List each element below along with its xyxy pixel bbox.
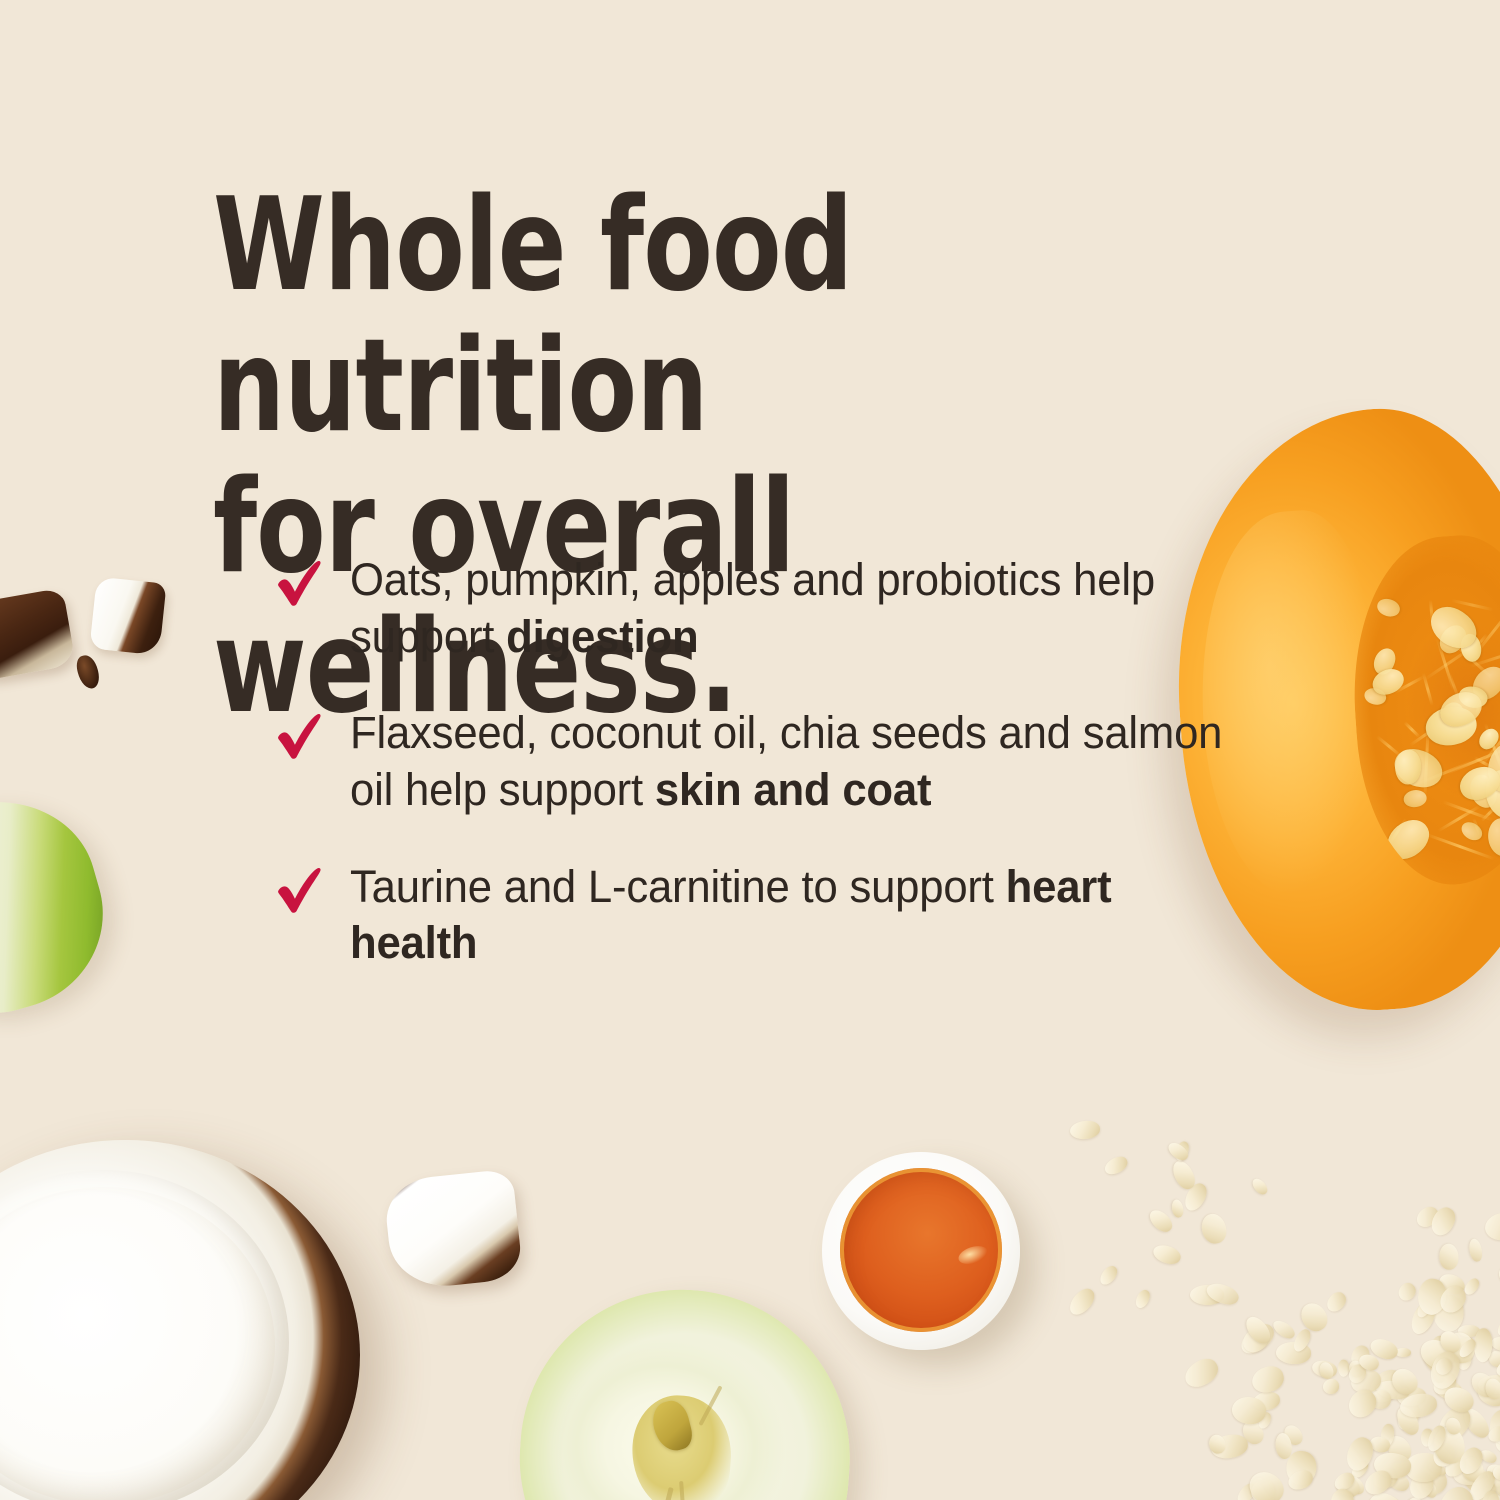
pumpkin-seed [1362, 686, 1387, 706]
oat-flake [1431, 1362, 1446, 1384]
pumpkin-fiber [1436, 638, 1455, 691]
oat-flake [1494, 1355, 1500, 1380]
pumpkin-seed [1395, 750, 1421, 785]
pumpkin-seed [1475, 725, 1500, 753]
oat-flake [1393, 1399, 1424, 1433]
oat-flake [1338, 1360, 1349, 1377]
oat-flake [1097, 1263, 1120, 1287]
oat-flake [1371, 1491, 1406, 1500]
oat-flake [1433, 1401, 1477, 1446]
oat-flake [1489, 1335, 1500, 1353]
pumpkin-fiber [1481, 805, 1498, 822]
rolled-oats-photo [1120, 1140, 1500, 1500]
oat-flake [1495, 1315, 1500, 1338]
oat-flake [1420, 1340, 1455, 1377]
oat-flake [1479, 1447, 1499, 1465]
oat-flake [1283, 1448, 1319, 1488]
oat-flake [1444, 1330, 1477, 1365]
oat-flake [1458, 1325, 1480, 1338]
pumpkin-seed [1389, 743, 1447, 794]
oat-flake [1461, 1276, 1481, 1297]
pumpkin-fiber [1412, 760, 1475, 788]
pumpkin-fiber [1426, 697, 1460, 740]
oat-flake [1333, 1472, 1363, 1500]
coconut-chunk-photo [383, 1169, 524, 1292]
oat-flake [1256, 1410, 1273, 1430]
oat-flake [1478, 1375, 1500, 1394]
oat-flake [1455, 1444, 1487, 1478]
oat-flake [1484, 1211, 1500, 1242]
oat-flake [1484, 1377, 1500, 1401]
pumpkin-fiber [1403, 721, 1420, 738]
oat-flake [1368, 1434, 1392, 1455]
pumpkin-fiber [1473, 756, 1493, 769]
apple-slice-photo [0, 777, 125, 1033]
oat-flake [1361, 1466, 1396, 1499]
pumpkin-seed [1402, 789, 1428, 810]
oat-flake [1439, 1244, 1458, 1270]
oat-flake [1453, 1463, 1485, 1486]
oat-flake [1252, 1390, 1282, 1412]
pumpkin-fiber [1492, 802, 1500, 823]
oat-flake [1406, 1299, 1439, 1338]
oat-flake [1442, 1454, 1470, 1480]
check-icon [276, 560, 322, 612]
benefit-text: Taurine and L-carnitine to support heart… [350, 859, 1229, 972]
coconut-rim-shadow [0, 1187, 275, 1500]
oat-flake [1297, 1298, 1331, 1334]
oat-flake [1436, 1270, 1467, 1297]
oat-flake [1350, 1368, 1383, 1394]
oat-flake [1465, 1468, 1499, 1500]
pumpkin-seed [1459, 632, 1485, 663]
pumpkin-fiber [1446, 746, 1500, 776]
pumpkin-seed [1455, 760, 1500, 805]
oat-flake [1318, 1361, 1335, 1381]
oat-flake [1460, 1455, 1486, 1483]
pumpkin-fiber [1376, 735, 1402, 757]
oat-flake [1457, 1337, 1479, 1360]
oat-flake [1440, 1382, 1477, 1416]
oat-flake [1495, 1474, 1500, 1491]
oat-flake [1416, 1277, 1449, 1317]
pumpkin-seed-cavity [1343, 530, 1500, 891]
oat-flake [1102, 1153, 1130, 1177]
oat-flake [1181, 1179, 1211, 1213]
oat-flake [1208, 1433, 1227, 1454]
oat-flake [1230, 1394, 1268, 1426]
oat-flake [1461, 1455, 1487, 1493]
oat-flake [1427, 1204, 1460, 1240]
oat-flake [1444, 1416, 1462, 1436]
oil-glint [957, 1243, 990, 1267]
oat-flake [1486, 1347, 1500, 1370]
oat-flake [1395, 1280, 1419, 1304]
oat-flake [1414, 1468, 1449, 1499]
pumpkin-seed [1466, 770, 1500, 811]
pumpkin-seed [1486, 816, 1500, 857]
oat-flake [1249, 1363, 1287, 1396]
oat-flake [1210, 1433, 1250, 1461]
oat-flake [1387, 1363, 1422, 1399]
oat-flake [1348, 1359, 1364, 1378]
pumpkin-fiber [1484, 723, 1500, 771]
oat-flake [1432, 1355, 1454, 1378]
coconut-shard-photo [0, 588, 76, 681]
oat-flake [1372, 1450, 1412, 1481]
oat-flake [1169, 1158, 1198, 1193]
pumpkin-fiber [1470, 648, 1500, 669]
oat-flake [1486, 1491, 1500, 1500]
pumpkin-seed [1438, 700, 1467, 737]
pumpkin-fiber [1410, 723, 1442, 747]
pumpkin-fiber [1474, 634, 1488, 650]
oat-flake [1474, 1380, 1500, 1412]
oat-flake [1290, 1327, 1313, 1354]
oat-flake [1342, 1433, 1378, 1474]
oat-flake [1180, 1354, 1222, 1392]
oat-flake [1165, 1139, 1191, 1164]
oat-flake [1379, 1423, 1396, 1448]
oat-flake [1482, 1460, 1500, 1494]
oat-flake [1427, 1333, 1447, 1358]
oat-flake [1133, 1287, 1152, 1309]
oat-flake [1448, 1332, 1480, 1367]
oat-flake [1485, 1423, 1500, 1444]
oat-flake [1491, 1421, 1500, 1457]
benefit-list: Oats, pumpkin, apples and probiotics hel… [276, 552, 1256, 972]
oat-flake [1370, 1389, 1392, 1409]
oat-flake [1069, 1120, 1100, 1140]
pumpkin-fiber [1448, 637, 1494, 679]
oat-flake [1343, 1385, 1382, 1423]
pumpkin-seed [1435, 685, 1487, 733]
apple-core [628, 1392, 735, 1500]
oat-flake [1236, 1319, 1279, 1359]
oat-flake [1424, 1423, 1449, 1454]
oat-flake [1405, 1453, 1442, 1483]
oat-flake [1435, 1282, 1471, 1318]
oat-flake [1431, 1375, 1465, 1404]
oat-flake [1332, 1470, 1357, 1493]
oat-flake [1483, 1476, 1500, 1492]
benefit-text: Oats, pumpkin, apples and probiotics hel… [350, 552, 1229, 665]
pumpkin-fiber [1475, 696, 1483, 716]
apple-core-line [679, 1481, 687, 1500]
oat-flake [1368, 1335, 1401, 1363]
pumpkin-fiber [1447, 672, 1460, 700]
oat-flake [1486, 1477, 1500, 1500]
oat-flake [1397, 1386, 1427, 1406]
pumpkin-seed [1380, 812, 1436, 867]
oat-flake [1427, 1460, 1449, 1478]
oat-flake [1480, 1489, 1500, 1500]
oat-flake [1348, 1343, 1373, 1370]
oat-flake [1405, 1468, 1437, 1500]
oat-flake [1420, 1429, 1434, 1448]
oat-flake [1493, 1465, 1500, 1480]
oat-flake [1398, 1392, 1438, 1419]
pumpkin-seed [1457, 685, 1489, 711]
oat-flake [1146, 1206, 1176, 1236]
pumpkin-fiber [1425, 833, 1494, 860]
oat-flake [1403, 1496, 1446, 1500]
oat-flake [1468, 1368, 1500, 1402]
infographic-canvas: Whole food nutrition for overall wellnes… [0, 0, 1500, 1500]
oat-flake [1380, 1372, 1403, 1391]
benefit-lead: Oats, pumpkin, apples and probiotics hel… [350, 554, 1155, 662]
oil-surface [840, 1168, 1002, 1332]
check-icon [276, 713, 322, 765]
check-icon [276, 867, 322, 919]
oat-flake [1323, 1378, 1340, 1394]
pumpkin-fiber [1472, 603, 1500, 657]
oat-flake [1467, 1238, 1483, 1263]
coconut-flesh [0, 1170, 289, 1500]
benefit-emphasis: digestion [506, 611, 698, 662]
oat-flake [1416, 1333, 1460, 1375]
oat-flake [1383, 1468, 1413, 1496]
list-item: Flaxseed, coconut oil, chia seeds and sa… [276, 705, 1256, 818]
oat-flake [1275, 1341, 1311, 1365]
oat-flake [1263, 1488, 1275, 1500]
pumpkin-fiber [1393, 675, 1424, 694]
oat-flake [1190, 1285, 1225, 1306]
coconut-half-photo [0, 1140, 360, 1500]
pumpkin-seed [1434, 621, 1470, 659]
oat-flake [1234, 1481, 1259, 1500]
oat-flake [1346, 1474, 1367, 1497]
pumpkin-fiber [1478, 719, 1500, 769]
oat-flake [1425, 1347, 1464, 1392]
benefit-emphasis: skin and coat [655, 764, 931, 815]
pumpkin-seed [1481, 766, 1500, 823]
oat-flake [1173, 1139, 1192, 1162]
oat-flake [1468, 1465, 1489, 1485]
oat-flake [1370, 1464, 1401, 1491]
oat-flake [1286, 1467, 1316, 1492]
apple-half-photo [509, 1279, 861, 1500]
pumpkin-fiber [1429, 599, 1434, 621]
oat-flake [1429, 1439, 1459, 1470]
oat-flake [1394, 1348, 1410, 1358]
apple-core-line [698, 1386, 722, 1427]
pumpkin-fiber [1424, 642, 1479, 680]
oat-flake [1413, 1203, 1442, 1230]
oat-flake [1199, 1212, 1228, 1247]
oat-flake [1151, 1242, 1183, 1267]
pumpkin-fiber [1385, 818, 1406, 848]
oat-flake [1460, 1404, 1493, 1441]
oat-flake [1238, 1323, 1273, 1356]
pumpkin-fiber [1442, 800, 1493, 821]
apple-seed [648, 1398, 695, 1455]
oat-flake [1242, 1312, 1274, 1347]
pumpkin-seed [1423, 599, 1484, 657]
pumpkin-seed [1369, 665, 1408, 700]
pumpkin-seed [1422, 702, 1480, 749]
pumpkin-fiber [1437, 805, 1480, 832]
oat-flake [1364, 1364, 1409, 1408]
pumpkin-seed [1467, 660, 1500, 705]
oat-flake [1357, 1352, 1382, 1374]
pumpkin-fiber [1451, 599, 1494, 611]
list-item: Taurine and L-carnitine to support heart… [276, 859, 1256, 972]
benefit-text: Flaxseed, coconut oil, chia seeds and sa… [350, 705, 1229, 818]
oat-flake [1248, 1477, 1278, 1500]
oat-flake [1496, 1414, 1500, 1453]
pumpkin-seed [1484, 740, 1500, 795]
pumpkin-fiber [1423, 730, 1429, 797]
oat-flake [1415, 1298, 1434, 1320]
oat-flake [1250, 1176, 1270, 1197]
oat-flake [1324, 1289, 1350, 1315]
oat-flake [1346, 1362, 1370, 1386]
coconut-shard-photo [89, 577, 166, 656]
pumpkin-fiber [1422, 673, 1434, 707]
pumpkin-seed [1458, 819, 1485, 844]
oat-flake [1275, 1433, 1293, 1460]
oat-flake [1349, 1457, 1372, 1480]
list-item: Oats, pumpkin, apples and probiotics hel… [276, 552, 1256, 665]
oat-flake [1437, 1328, 1464, 1357]
oat-flake [1489, 1409, 1500, 1446]
pumpkin-seed [1375, 597, 1401, 619]
salmon-oil-bowl-photo [822, 1152, 1020, 1350]
oat-flake [1270, 1317, 1297, 1341]
benefit-lead: Taurine and L-carnitine to support [350, 861, 1006, 912]
oat-flake [1203, 1279, 1241, 1308]
oat-flake [1363, 1487, 1407, 1500]
oat-flake [1251, 1477, 1268, 1496]
oat-flake [1383, 1431, 1415, 1465]
oat-flake [1433, 1293, 1465, 1332]
oat-flake [1456, 1349, 1473, 1371]
oat-flake [1429, 1368, 1460, 1398]
oat-flake [1239, 1417, 1267, 1447]
oat-flake [1281, 1422, 1306, 1448]
pumpkin-seed [1370, 645, 1398, 677]
oat-flake [1326, 1485, 1357, 1500]
oat-flake [1486, 1465, 1500, 1500]
oat-flake [1420, 1475, 1439, 1499]
oat-flake [1433, 1481, 1480, 1500]
oat-flake [1432, 1425, 1467, 1465]
oat-flake [1394, 1403, 1423, 1438]
oat-flake [1065, 1285, 1098, 1319]
oat-flake [1375, 1379, 1411, 1402]
coconut-crumb-photo [74, 653, 102, 691]
oat-flake [1310, 1358, 1338, 1380]
oat-flake [1243, 1466, 1289, 1500]
oat-flake [1466, 1473, 1500, 1500]
pumpkin-fiber [1472, 818, 1482, 837]
apple-core-line [652, 1487, 674, 1500]
oat-flake [1172, 1199, 1185, 1218]
oat-flake [1473, 1327, 1493, 1363]
